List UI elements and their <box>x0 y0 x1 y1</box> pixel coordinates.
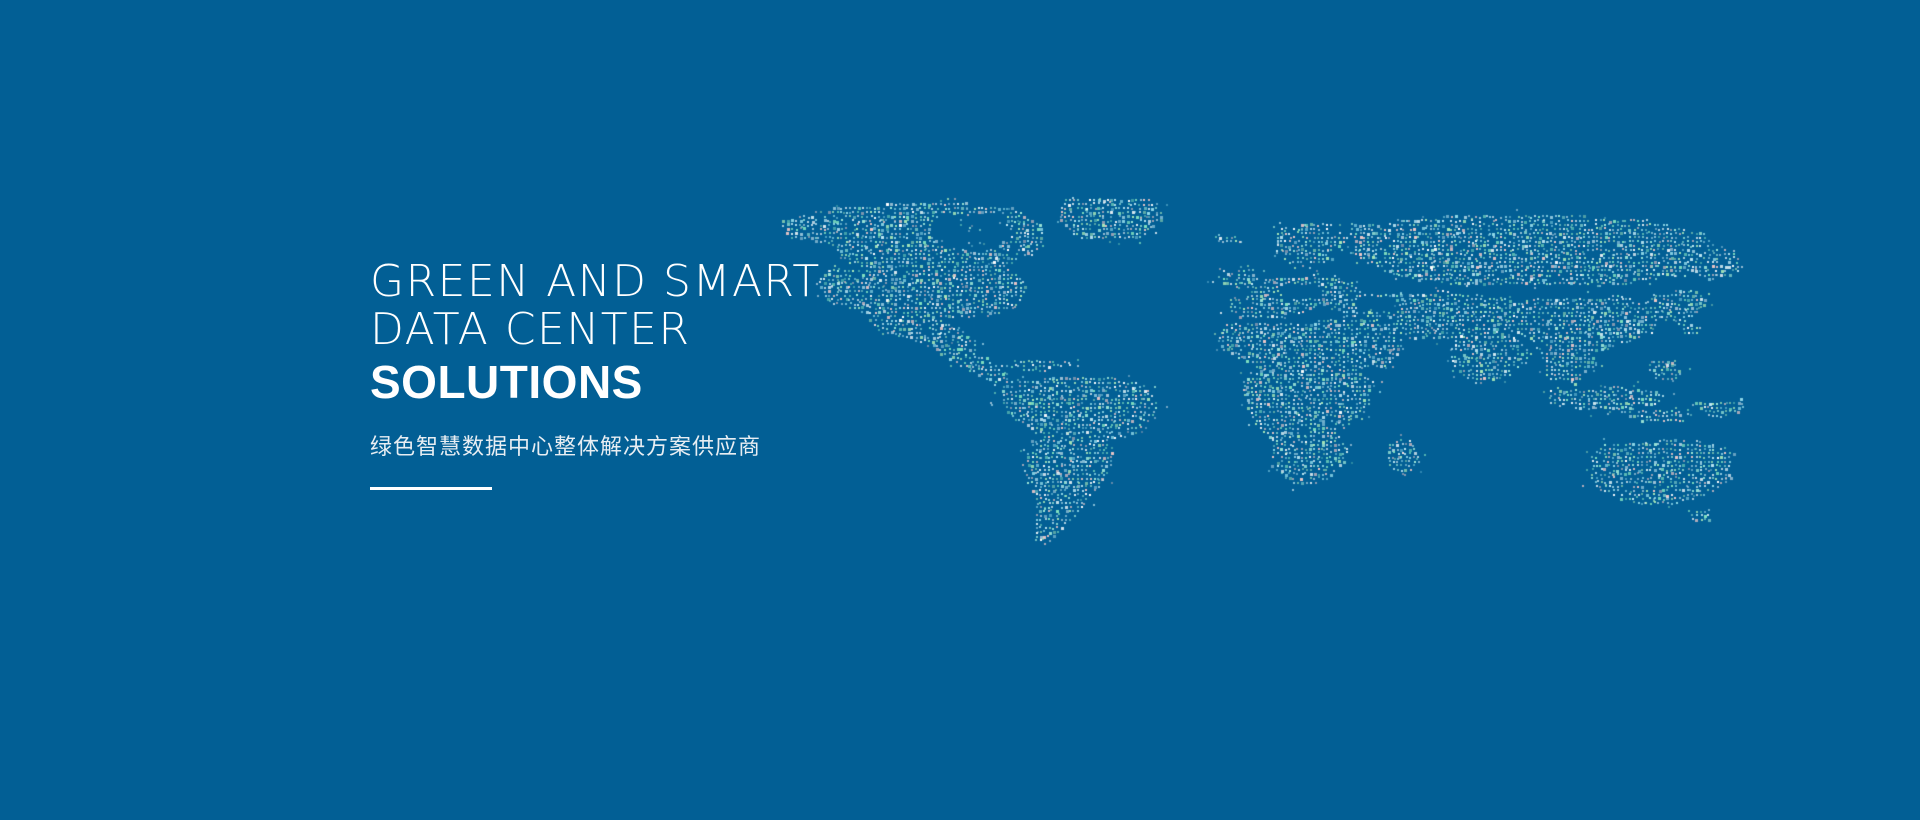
accent-rule-divider <box>370 487 492 490</box>
hero-text-block: GREEN AND SMART DATA CENTER SOLUTIONS 绿色… <box>370 258 1130 490</box>
hero-banner: GREEN AND SMART DATA CENTER SOLUTIONS 绿色… <box>0 0 1920 820</box>
hero-subtitle: 绿色智慧数据中心整体解决方案供应商 <box>370 429 1130 461</box>
headline-line-2: DATA CENTER <box>370 306 1130 354</box>
headline-line-3: SOLUTIONS <box>370 357 1130 408</box>
headline-line-1: GREEN AND SMART <box>370 258 1130 306</box>
